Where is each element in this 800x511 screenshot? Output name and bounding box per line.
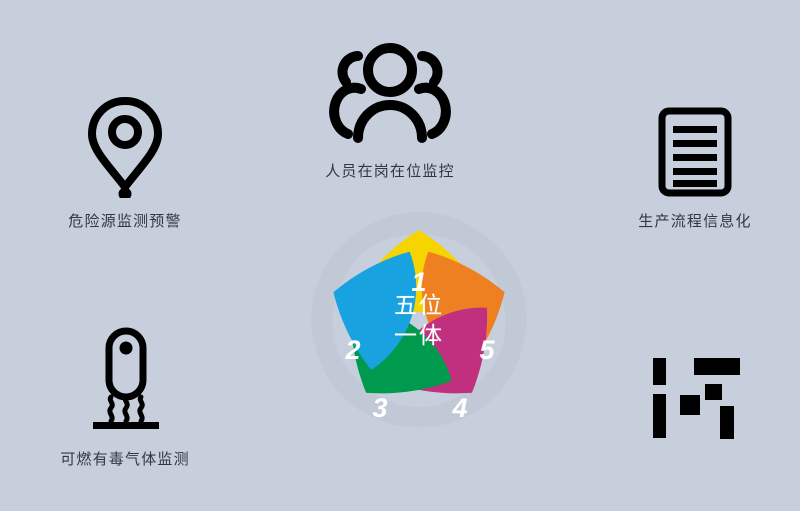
- feature-hazard-source-warning[interactable]: 危险源监测预警: [18, 98, 232, 231]
- petal-3-number: 3: [372, 393, 387, 423]
- feature-label: 人员在岗在位监控: [325, 160, 455, 181]
- petal-2-number: 2: [344, 335, 360, 365]
- feature-production-process-informatization[interactable]: 生产流程信息化: [588, 100, 800, 231]
- icon-container: [324, 42, 456, 150]
- petal-1-number: 1: [411, 267, 426, 297]
- document-lines-icon: [657, 106, 733, 198]
- icon-container: [657, 100, 733, 198]
- petal-4-number: 4: [451, 393, 467, 423]
- blocks-abstract-icon: [642, 350, 748, 442]
- map-pin-icon: [86, 94, 164, 198]
- icon-container: [642, 346, 748, 442]
- feature-label: 生产流程信息化: [638, 210, 751, 231]
- icon-container: [86, 98, 164, 198]
- icon-container: [83, 326, 167, 436]
- people-group-icon: [324, 42, 456, 150]
- gas-detector-icon: [83, 326, 167, 436]
- petal-5-number: 5: [479, 335, 495, 365]
- feature-label: 危险源监测预警: [68, 210, 181, 231]
- feature-label: 可燃有毒气体监测: [60, 448, 190, 469]
- five-in-one-wheel: 1 2 3 4 5: [285, 186, 553, 454]
- feature-personnel-monitoring[interactable]: 人员在岗在位监控: [283, 42, 497, 181]
- feature-gas-detection[interactable]: 可燃有毒气体监测: [18, 326, 232, 469]
- infographic-canvas: 1 2 3 4 5 五位 一体: [0, 0, 800, 511]
- feature-abstract-blocks[interactable]: [588, 346, 800, 454]
